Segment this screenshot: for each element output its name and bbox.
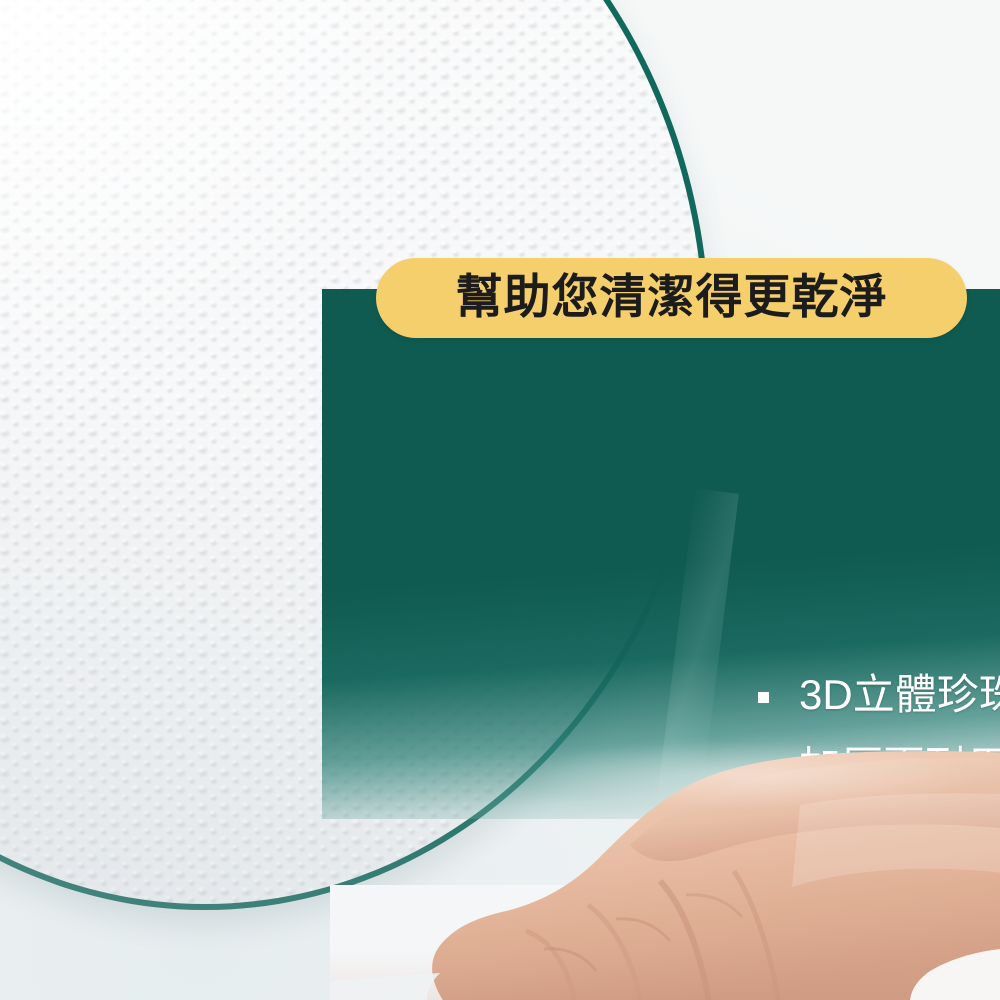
square-bullet-icon: [758, 908, 769, 919]
square-bullet-icon: [758, 980, 769, 991]
list-item: 高鎖水力: [758, 803, 1000, 875]
square-bullet-icon: [758, 764, 769, 775]
headline-banner: 幫助您清潔得更乾淨: [376, 258, 967, 338]
list-item: 一次一張好抽取: [758, 947, 1000, 1000]
feature-label: 高鎖水力: [799, 818, 967, 860]
product-feature-banner: 3D立體珍珠花紋 加厚更耐用 高鎖水力 溫和對待寵物肌膚 一次一張好抽取 幫助您…: [0, 0, 1000, 1000]
feature-list: 3D立體珍珠花紋 加厚更耐用 高鎖水力 溫和對待寵物肌膚 一次一張好抽取: [758, 659, 1000, 1000]
feature-panel: 3D立體珍珠花紋 加厚更耐用 高鎖水力 溫和對待寵物肌膚 一次一張好抽取: [322, 289, 1000, 819]
feature-label: 加厚更耐用: [799, 746, 1000, 788]
feature-label: 一次一張好抽取: [799, 962, 1000, 1000]
headline-text: 幫助您清潔得更乾淨: [456, 273, 888, 323]
feature-label: 3D立體珍珠花紋: [799, 674, 1000, 716]
square-bullet-icon: [758, 692, 769, 703]
square-bullet-icon: [758, 836, 769, 847]
feature-label: 溫和對待寵物肌膚: [799, 890, 1000, 932]
list-item: 溫和對待寵物肌膚: [758, 875, 1000, 947]
list-item: 加厚更耐用: [758, 731, 1000, 803]
list-item: 3D立體珍珠花紋: [758, 659, 1000, 731]
